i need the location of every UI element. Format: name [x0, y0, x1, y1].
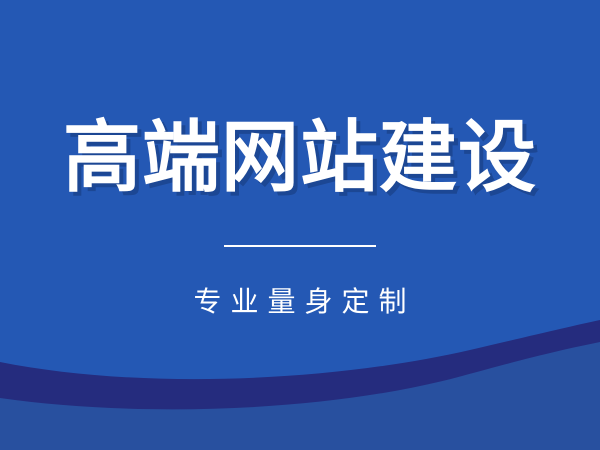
banner-title: 高端网站建设: [63, 112, 537, 204]
banner-subtitle: 专业量身定制: [184, 285, 415, 319]
banner-content: 高端网站建设 专业量身定制: [0, 0, 600, 450]
title-divider: [224, 245, 376, 247]
promo-banner: 高端网站建设 专业量身定制: [0, 0, 600, 450]
